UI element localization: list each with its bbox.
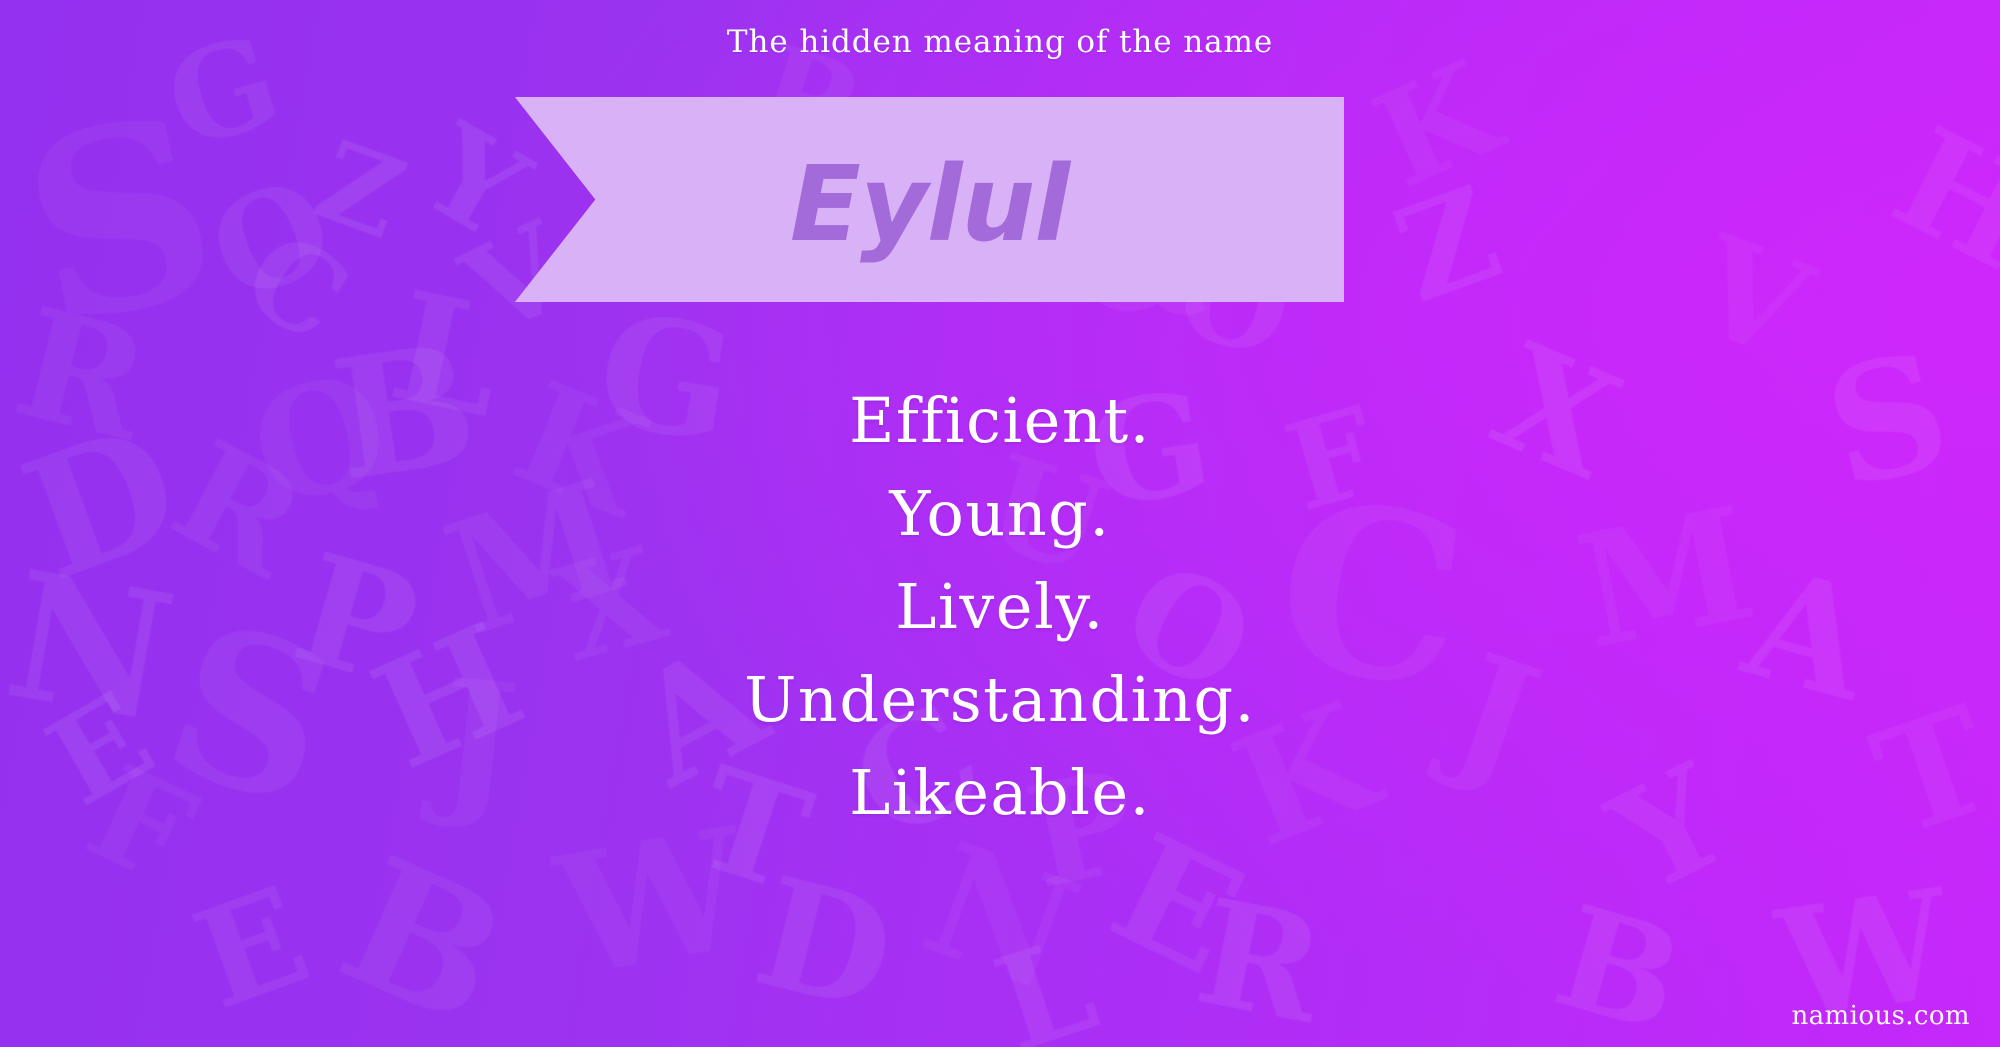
trait-line: Likeable. — [0, 746, 2000, 839]
trait-list: Efficient.Young.Lively.Understanding.Lik… — [0, 374, 2000, 839]
background-letter: D — [744, 856, 907, 1033]
background-letter: R — [1187, 880, 1333, 1045]
page-title: The hidden meaning of the name — [0, 24, 2000, 60]
background-letter: H — [1875, 108, 2000, 293]
background-letter: L — [982, 919, 1109, 1047]
background-letter: V — [1679, 216, 1825, 380]
site-watermark: namious.com — [1792, 1001, 1971, 1031]
background-letter: C — [226, 214, 365, 360]
background-letter: E — [1093, 813, 1262, 998]
background-letter: B — [1543, 886, 1695, 1047]
background-letter: O — [195, 159, 349, 322]
background-letter: K — [1358, 43, 1514, 208]
background-letter: S — [6, 79, 235, 361]
trait-line: Young. — [0, 467, 2000, 560]
name-meaning-card: SRDNEFSOCZQRBPHJMLVYKXGATWBEDCNPELRKCFOG… — [0, 0, 2000, 1047]
background-letter: E — [180, 866, 323, 1028]
trait-line: Efficient. — [0, 374, 2000, 467]
trait-line: Understanding. — [0, 653, 2000, 746]
background-letter: Z — [304, 125, 417, 256]
trait-line: Lively. — [0, 560, 2000, 653]
background-letter: Z — [1381, 168, 1515, 323]
background-letter: N — [908, 820, 1094, 1014]
background-letter: B — [321, 832, 527, 1047]
name-text: Eylul — [515, 101, 1344, 306]
